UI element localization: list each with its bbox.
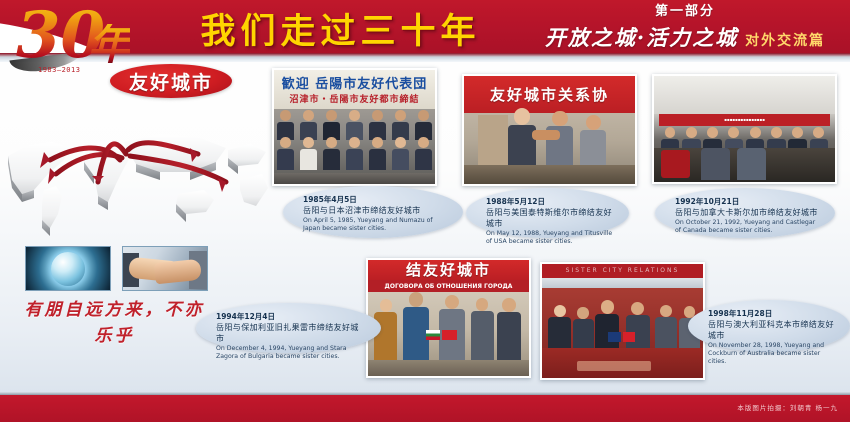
caption-date: 1988年5月12日 bbox=[486, 197, 613, 207]
footer-bar: 本版图片拍摄：刘朝青 杨一九 bbox=[0, 395, 850, 422]
photo-handshake bbox=[122, 246, 208, 291]
globe-icon bbox=[26, 247, 110, 290]
photo-australia-signing: SISTER CITY RELATIONS bbox=[540, 262, 705, 380]
caption-en: On May 12, 1988, Yueyang and Titusville … bbox=[486, 230, 613, 246]
photo2-banner-text: 友好城市关系协 bbox=[490, 84, 609, 105]
caption-1988-usa: 1988年5月12日 岳阳与美国泰特斯维尔市缔结友好城市 On May 12, … bbox=[466, 188, 629, 238]
caption-zh: 岳阳与保加利亚旧扎果雷市缔结友好城市 bbox=[216, 322, 365, 344]
caption-zh: 岳阳与日本沼津市缔结友好城市 bbox=[303, 205, 447, 216]
section-heading: 第一部分 开放之城·活力之城 对外交流篇 bbox=[520, 4, 850, 54]
caption-en: On April 5, 1985, Yueyang and Numazu of … bbox=[303, 217, 447, 233]
caption-zh: 岳阳与澳大利亚科克本市缔结友好城市 bbox=[708, 319, 834, 341]
caption-date: 1998年11月28日 bbox=[708, 309, 834, 319]
poster-page: 30 年 1983—2013 友好城市 我们走过三十年 第一部分 开放之城·活力… bbox=[0, 0, 850, 422]
caption-en: On December 4, 1994, Yueyang and Stara Z… bbox=[216, 345, 365, 361]
caption-1998-australia: 1998年11月28日 岳阳与澳大利亚科克本市缔结友好城市 On Novembe… bbox=[688, 300, 850, 352]
photo-hands-globe bbox=[25, 246, 111, 291]
caption-date: 1985年4月5日 bbox=[303, 195, 447, 205]
map-landmasses bbox=[8, 134, 268, 236]
photo1-crowd bbox=[274, 109, 435, 184]
handshake-icon bbox=[123, 247, 207, 290]
friendship-city-badge: 友好城市 bbox=[110, 64, 232, 98]
photo-japan-ceremony: 歓迎 岳陽市友好代表団 沼津市・岳陽市友好都市締結 bbox=[272, 68, 437, 186]
logo-year-range: 1983—2013 bbox=[38, 66, 80, 74]
photo5-banner-text: SISTER CITY RELATIONS bbox=[566, 267, 680, 274]
caption-date: 1992年10月21日 bbox=[675, 197, 819, 207]
caption-1994-bulgaria: 1994年12月4日 岳阳与保加利亚旧扎果雷市缔结友好城市 On Decembe… bbox=[196, 303, 381, 353]
section-tag: 对外交流篇 bbox=[745, 30, 825, 50]
photo2-banner: 友好城市关系协 bbox=[464, 76, 635, 113]
friendship-city-badge-label: 友好城市 bbox=[129, 68, 213, 95]
photo4-banner: 结友好城市 bbox=[368, 260, 529, 280]
world-map-svg bbox=[0, 98, 270, 248]
caption-en: On November 28, 1998, Yueyang and Cockbu… bbox=[708, 342, 834, 366]
caption-zh: 岳阳与美国泰特斯维尔市缔结友好城市 bbox=[486, 207, 613, 229]
photo1-banner-text: 歓迎 岳陽市友好代表団 bbox=[282, 73, 428, 92]
part-label: 第一部分 bbox=[520, 4, 850, 20]
photo4-banner-text: 结友好城市 bbox=[406, 260, 491, 280]
page-title-text: 我们走过三十年 bbox=[200, 3, 480, 54]
photo-canada-conference: ▪▪▪▪▪▪▪▪▪▪▪▪▪▪▪ bbox=[652, 74, 837, 184]
photo4-banner-subtext: ДОГОВОРА ОБ ОТНОШЕНИЯ ГОРОДА bbox=[385, 283, 513, 290]
caption-zh: 岳阳与加拿大卡斯尔加市缔结友好城市 bbox=[675, 207, 819, 218]
logo-nian-character: 年 bbox=[88, 24, 130, 66]
section-subtitle: 开放之城·活力之城 bbox=[545, 22, 738, 52]
world-map-graphic bbox=[0, 98, 270, 248]
photo1-banner: 歓迎 岳陽市友好代表団 沼津市・岳陽市友好都市締結 bbox=[274, 70, 435, 109]
caption-1985-japan: 1985年4月5日 岳阳与日本沼津市缔结友好城市 On April 5, 198… bbox=[283, 186, 463, 238]
calligraphy-quote: 有朋自远方来，不亦乐乎 bbox=[22, 297, 207, 323]
caption-en: On October 21, 1992, Yueyang and Castleg… bbox=[675, 219, 819, 235]
photo-bulgaria-signing: 结友好城市 ДОГОВОРА ОБ ОТНОШЕНИЯ ГОРОДА bbox=[366, 258, 531, 378]
photo1-banner-subtext: 沼津市・岳陽市友好都市締結 bbox=[289, 92, 419, 105]
page-title: 我们走过三十年 bbox=[168, 2, 513, 54]
photo-credit: 本版图片拍摄：刘朝青 杨一九 bbox=[737, 402, 838, 412]
caption-date: 1994年12月4日 bbox=[216, 312, 365, 322]
caption-1992-canada: 1992年10月21日 岳阳与加拿大卡斯尔加市缔结友好城市 On October… bbox=[655, 188, 835, 238]
photo-usa-signing: 友好城市关系协 bbox=[462, 74, 637, 186]
